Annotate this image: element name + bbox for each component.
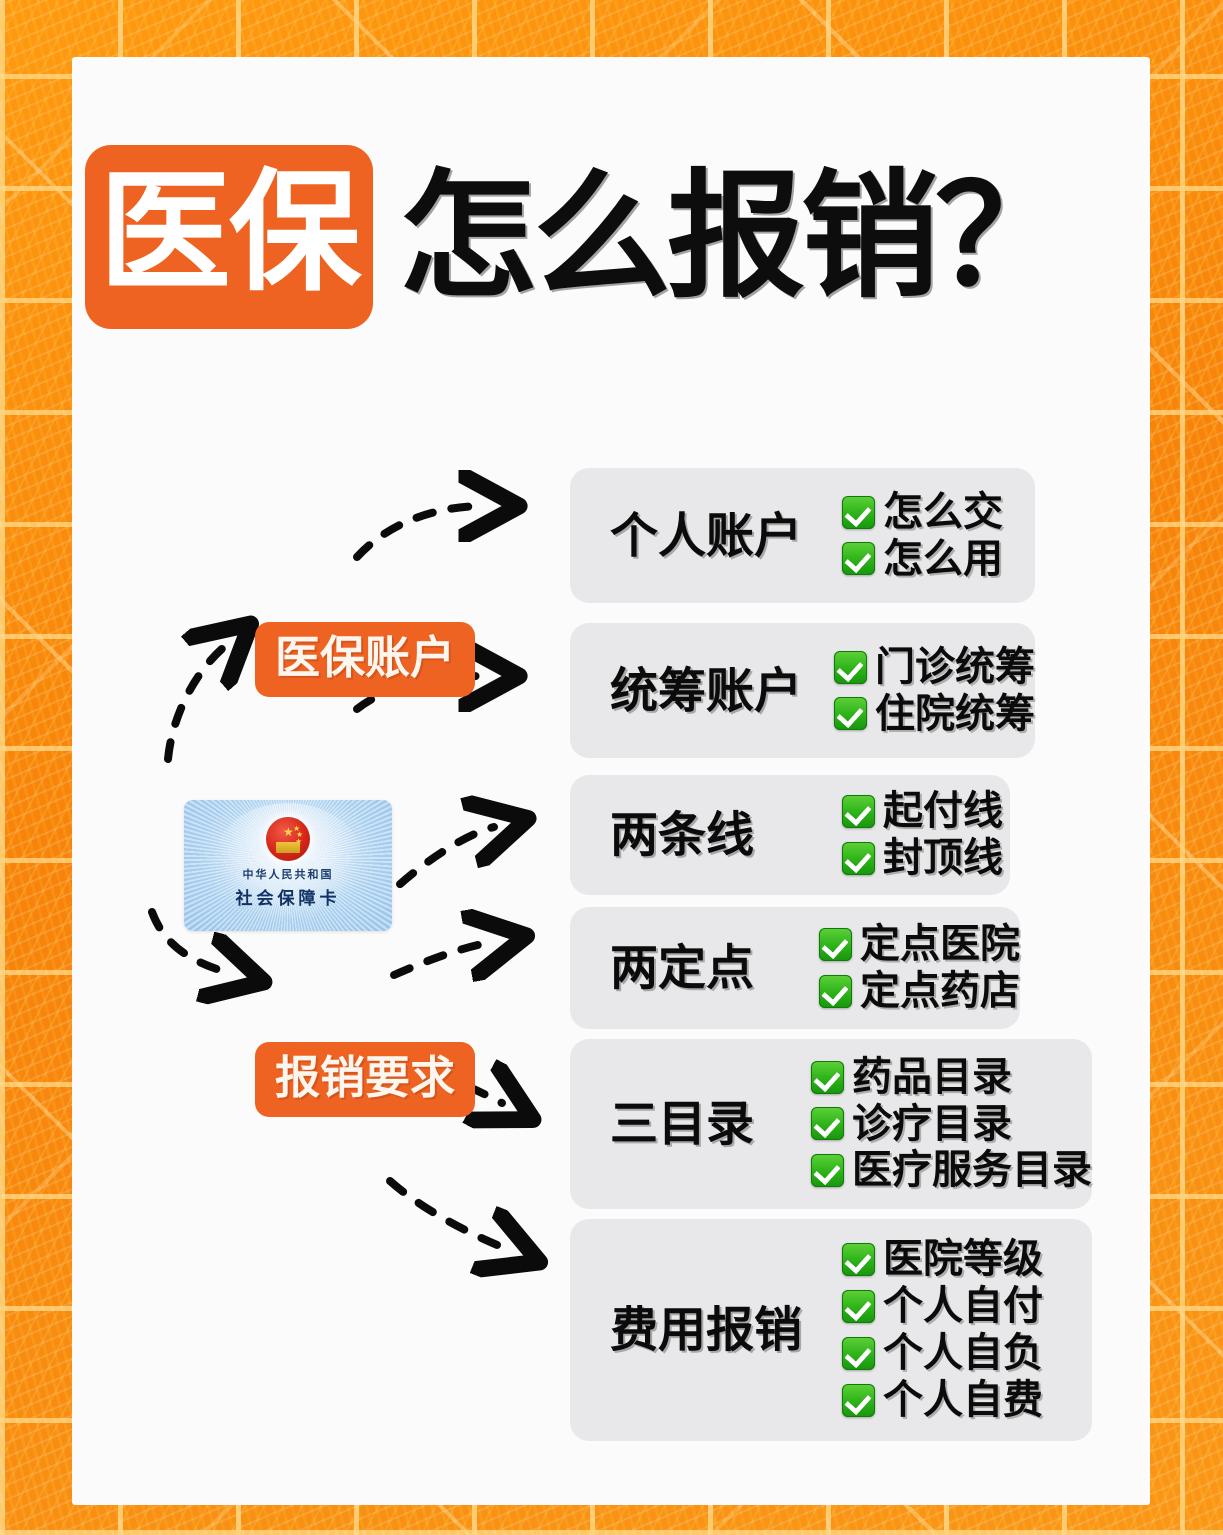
topic-item: 个人自付	[842, 1286, 1043, 1327]
topic-item-list: 定点医院 定点药店	[819, 924, 1020, 1012]
topic-item-label: 定点医院	[860, 924, 1020, 965]
arrow-claim-group-to-two-points	[394, 942, 492, 975]
topic-item: 个人自费	[842, 1380, 1043, 1421]
flow-diagram: ★★ ★★ ★ 中华人民共和国 社会保障卡 医保账户 报销要求 个人账户 怎么交…	[72, 57, 1150, 1505]
topic-item-list: 起付线 封顶线	[842, 791, 1003, 879]
check-icon	[842, 542, 875, 575]
topic-item-label: 个人自负	[883, 1333, 1043, 1374]
check-icon	[842, 842, 875, 875]
topic-item-label: 诊疗目录	[852, 1104, 1012, 1145]
topic-card-two-designated-points[interactable]: 两定点 定点医院 定点药店	[570, 907, 1020, 1029]
topic-item-list: 医院等级 个人自付 个人自负 个人自费	[842, 1239, 1043, 1420]
topic-item-list: 怎么交 怎么用	[842, 492, 1003, 580]
topic-card-personal-account[interactable]: 个人账户 怎么交 怎么用	[570, 468, 1035, 603]
topic-item: 怎么用	[842, 539, 1003, 580]
check-icon	[842, 1243, 875, 1276]
card-country-text: 中华人民共和国	[184, 866, 392, 882]
topic-item-label: 药品目录	[852, 1057, 1012, 1098]
topic-item-label: 住院统筹	[875, 694, 1035, 735]
topic-item-label: 怎么用	[883, 539, 1003, 580]
check-icon	[842, 795, 875, 828]
group-badge-claim-requirements[interactable]: 报销要求	[255, 1042, 475, 1117]
check-icon	[811, 1061, 844, 1094]
arrow-claim-group-to-expense	[390, 1181, 507, 1249]
topic-item: 个人自负	[842, 1333, 1043, 1374]
topic-card-two-lines[interactable]: 两条线 起付线 封顶线	[570, 775, 1010, 895]
topic-item-label: 封顶线	[883, 838, 1003, 879]
national-emblem-icon: ★★ ★★ ★	[266, 817, 310, 861]
topic-item-label: 怎么交	[883, 492, 1003, 533]
topic-item: 怎么交	[842, 492, 1003, 533]
arrow-account-group-to-personal	[357, 506, 484, 557]
topic-item: 起付线	[842, 791, 1003, 832]
arrow-card-to-account-group	[168, 647, 224, 759]
topic-item: 封顶线	[842, 838, 1003, 879]
check-icon	[842, 1337, 875, 1370]
emblem-gate	[276, 842, 300, 853]
topic-item: 医院等级	[842, 1239, 1043, 1280]
topic-card-three-catalogs[interactable]: 三目录 药品目录 诊疗目录 医疗服务目录	[570, 1039, 1092, 1209]
topic-item: 门诊统筹	[834, 647, 1035, 688]
topic-title: 三目录	[610, 1100, 811, 1148]
topic-title: 两条线	[610, 811, 842, 859]
topic-item-label: 门诊统筹	[875, 647, 1035, 688]
check-icon	[819, 928, 852, 961]
topic-title: 个人账户	[610, 512, 842, 560]
topic-item-label: 个人自费	[883, 1380, 1043, 1421]
check-icon	[842, 1384, 875, 1417]
check-icon	[819, 975, 852, 1008]
check-icon	[842, 1290, 875, 1323]
topic-item: 诊疗目录	[811, 1104, 1092, 1145]
topic-item-list: 门诊统筹 住院统筹	[834, 647, 1035, 735]
card-title-text: 社会保障卡	[184, 884, 392, 909]
arrow-claim-group-to-two-lines	[374, 827, 494, 909]
topic-title: 费用报销	[610, 1306, 842, 1354]
topic-card-expense-reimbursement[interactable]: 费用报销 医院等级 个人自付 个人自负 个人自费	[570, 1219, 1092, 1441]
group-badge-account[interactable]: 医保账户	[255, 622, 475, 697]
topic-item-label: 起付线	[883, 791, 1003, 832]
check-icon	[811, 1107, 844, 1140]
topic-title: 两定点	[610, 944, 819, 992]
topic-card-pooled-account[interactable]: 统筹账户 门诊统筹 住院统筹	[570, 623, 1035, 758]
topic-item-label: 个人自付	[883, 1286, 1043, 1327]
check-icon	[834, 697, 867, 730]
topic-item: 医疗服务目录	[811, 1150, 1092, 1191]
social-security-card: ★★ ★★ ★ 中华人民共和国 社会保障卡	[184, 800, 392, 931]
topic-item-label: 医疗服务目录	[852, 1150, 1092, 1191]
topic-item: 药品目录	[811, 1057, 1092, 1098]
topic-item-list: 药品目录 诊疗目录 医疗服务目录	[811, 1057, 1092, 1191]
topic-item: 住院统筹	[834, 694, 1035, 735]
check-icon	[811, 1154, 844, 1187]
topic-item: 定点医院	[819, 924, 1020, 965]
topic-item-label: 定点药店	[860, 971, 1020, 1012]
topic-item: 定点药店	[819, 971, 1020, 1012]
topic-title: 统筹账户	[610, 667, 834, 715]
check-icon	[842, 496, 875, 529]
check-icon	[834, 651, 867, 684]
topic-item-label: 医院等级	[883, 1239, 1043, 1280]
